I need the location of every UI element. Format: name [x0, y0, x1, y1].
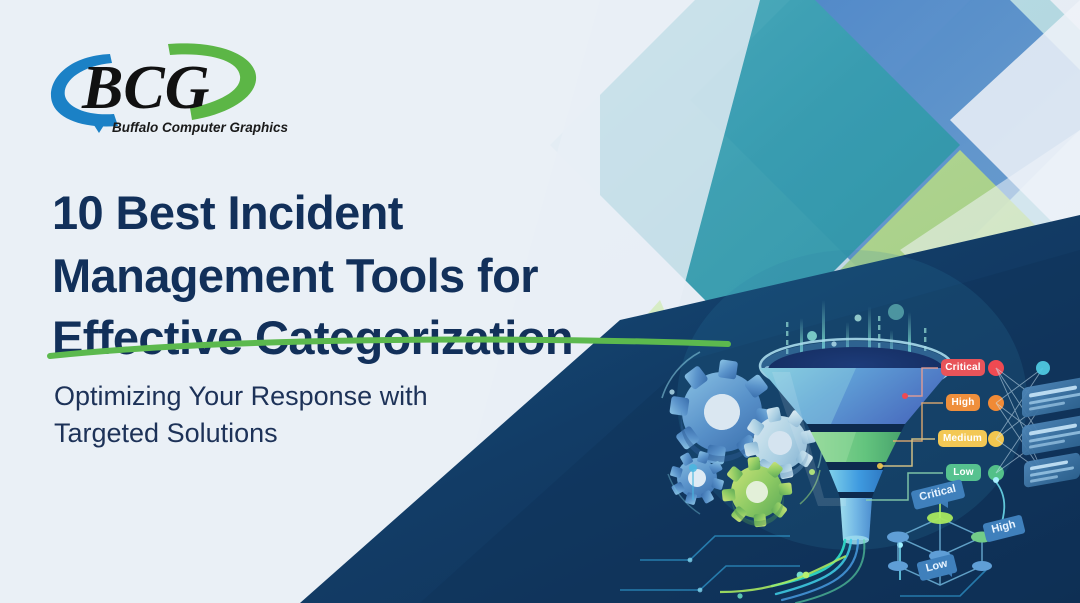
headline-line-1: 10 Best Incident: [52, 182, 742, 245]
logo-tagline: Buffalo Computer Graphics: [112, 120, 289, 135]
subtitle-line-2: Targeted Solutions: [54, 415, 614, 452]
priority-badge-high: High: [946, 394, 980, 411]
headline-underline: [44, 336, 734, 362]
priority-badge-medium: Medium: [938, 430, 987, 447]
subtitle-line-1: Optimizing Your Response with: [54, 378, 614, 415]
page-subtitle: Optimizing Your Response with Targeted S…: [54, 378, 614, 453]
priority-badge-low: Low: [946, 464, 981, 481]
poster-canvas: BCG Buffalo Computer Graphics 10 Best In…: [0, 0, 1080, 603]
bcg-logo[interactable]: BCG Buffalo Computer Graphics: [40, 36, 290, 136]
headline-line-2: Management Tools for: [52, 245, 742, 308]
priority-badge-critical: Critical: [941, 359, 985, 376]
bcg-logo-tagline-row: Buffalo Computer Graphics: [40, 36, 290, 136]
